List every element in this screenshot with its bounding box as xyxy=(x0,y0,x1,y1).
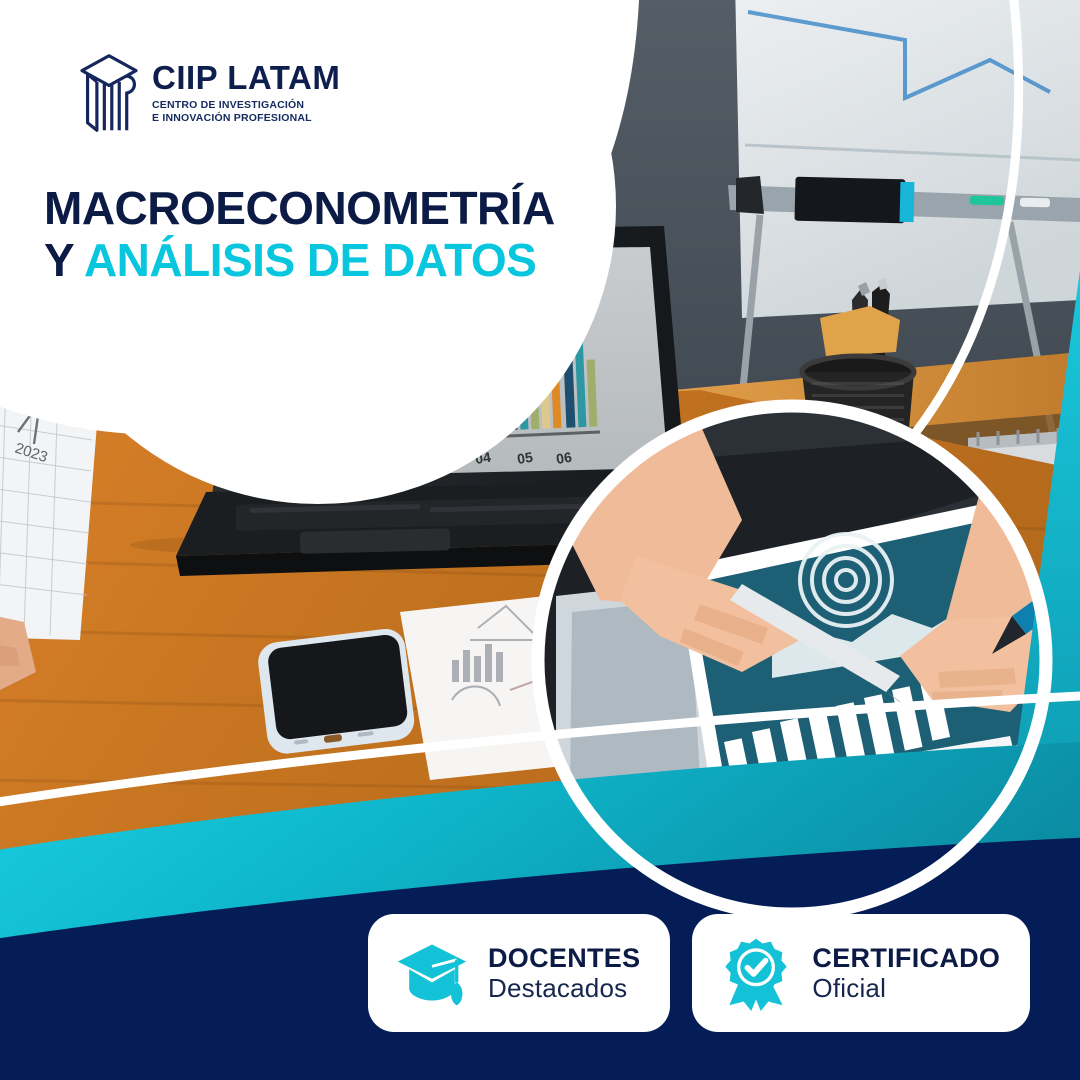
badge-certificado-title: CERTIFICADO xyxy=(812,943,1000,973)
promotional-poster: 0% 01 02 03 04 05 06 xyxy=(0,0,1080,1080)
headline-line-2: Y ANÁLISIS DE DATOS xyxy=(44,238,555,283)
brand-name: CIIP LATAM xyxy=(152,61,340,94)
badge-docentes-title: DOCENTES xyxy=(488,943,640,973)
headline-line-2-prefix: Y xyxy=(44,234,84,286)
brand-tagline-line1: CENTRO DE INVESTIGACIÓN xyxy=(152,99,340,112)
badge-docentes[interactable]: DOCENTES Destacados xyxy=(368,914,670,1032)
headline-line-1: MACROECONOMETRÍA xyxy=(44,186,555,231)
graduation-cap-ciip-monogram-icon xyxy=(76,52,142,134)
feature-badges: DOCENTES Destacados CERTIFICADO Oficial xyxy=(368,914,1030,1032)
brand-logo: CIIP LATAM CENTRO DE INVESTIGACIÓN E INN… xyxy=(76,52,340,134)
graduation-cap-icon xyxy=(394,935,470,1011)
badge-certificado-subtitle: Oficial xyxy=(812,974,1000,1003)
badge-docentes-subtitle: Destacados xyxy=(488,974,640,1003)
brand-tagline: CENTRO DE INVESTIGACIÓN E INNOVACIÓN PRO… xyxy=(152,99,340,126)
certificate-rosette-check-icon xyxy=(718,935,794,1011)
badge-certificado[interactable]: CERTIFICADO Oficial xyxy=(692,914,1030,1032)
white-arc-top-right xyxy=(916,0,1019,432)
headline-line-2-accent: ANÁLISIS DE DATOS xyxy=(84,234,536,286)
page-title: MACROECONOMETRÍA Y ANÁLISIS DE DATOS xyxy=(44,186,555,282)
brand-tagline-line2: E INNOVACIÓN PROFESIONAL xyxy=(152,112,340,125)
